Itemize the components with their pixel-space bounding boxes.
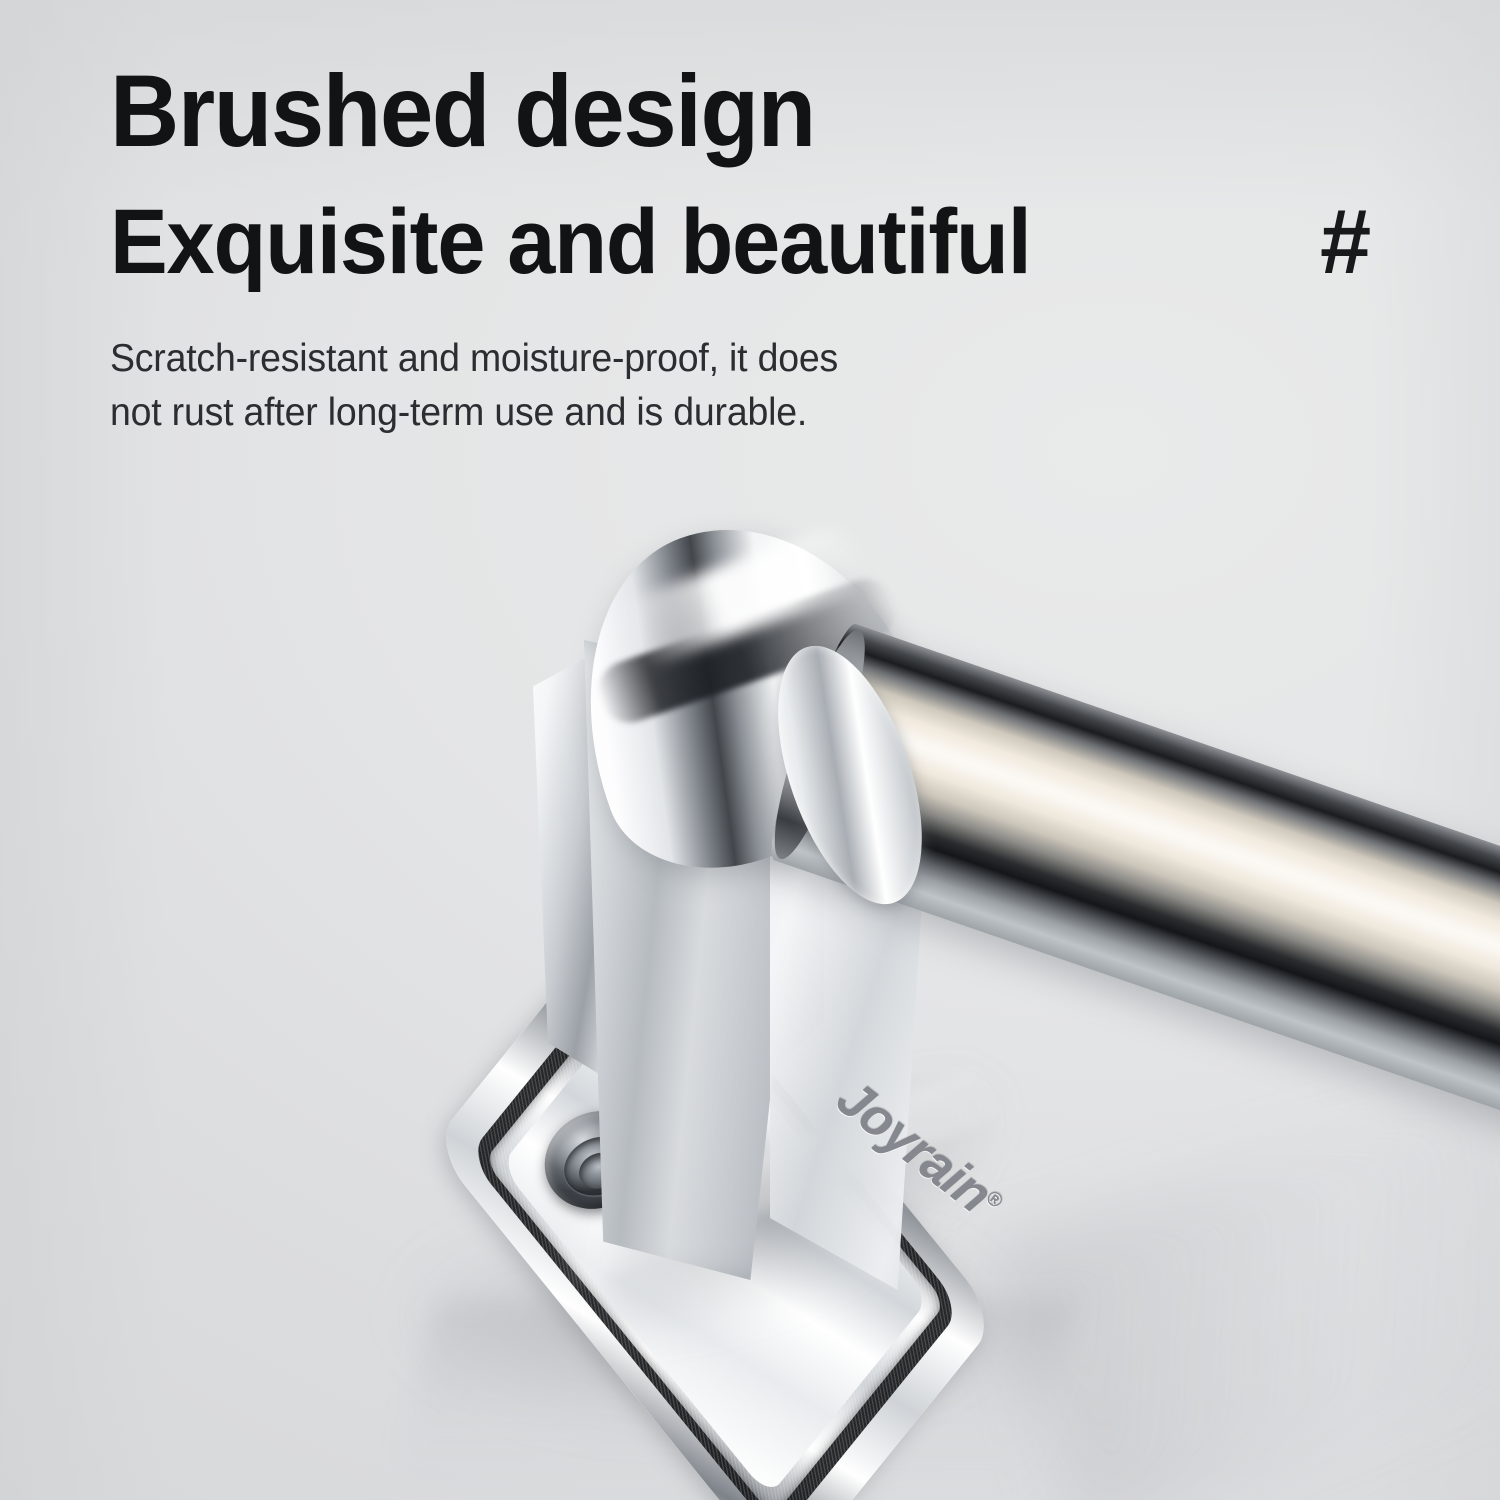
hash-marker-icon: # [1320, 196, 1369, 288]
headline-secondary: Exquisite and beautiful [110, 196, 1163, 288]
body-copy: Scratch-resistant and moisture-proof, it… [110, 332, 1185, 440]
headline-primary: Brushed design [110, 60, 1163, 162]
body-copy-line-2: not rust after long-term use and is dura… [110, 386, 1185, 440]
marketing-text-block: Brushed design Exquisite and beautiful S… [110, 60, 1230, 440]
image-canvas: Joyrain® Brushed design Exquisite and be… [0, 0, 1500, 1500]
body-copy-line-1: Scratch-resistant and moisture-proof, it… [110, 332, 1185, 386]
